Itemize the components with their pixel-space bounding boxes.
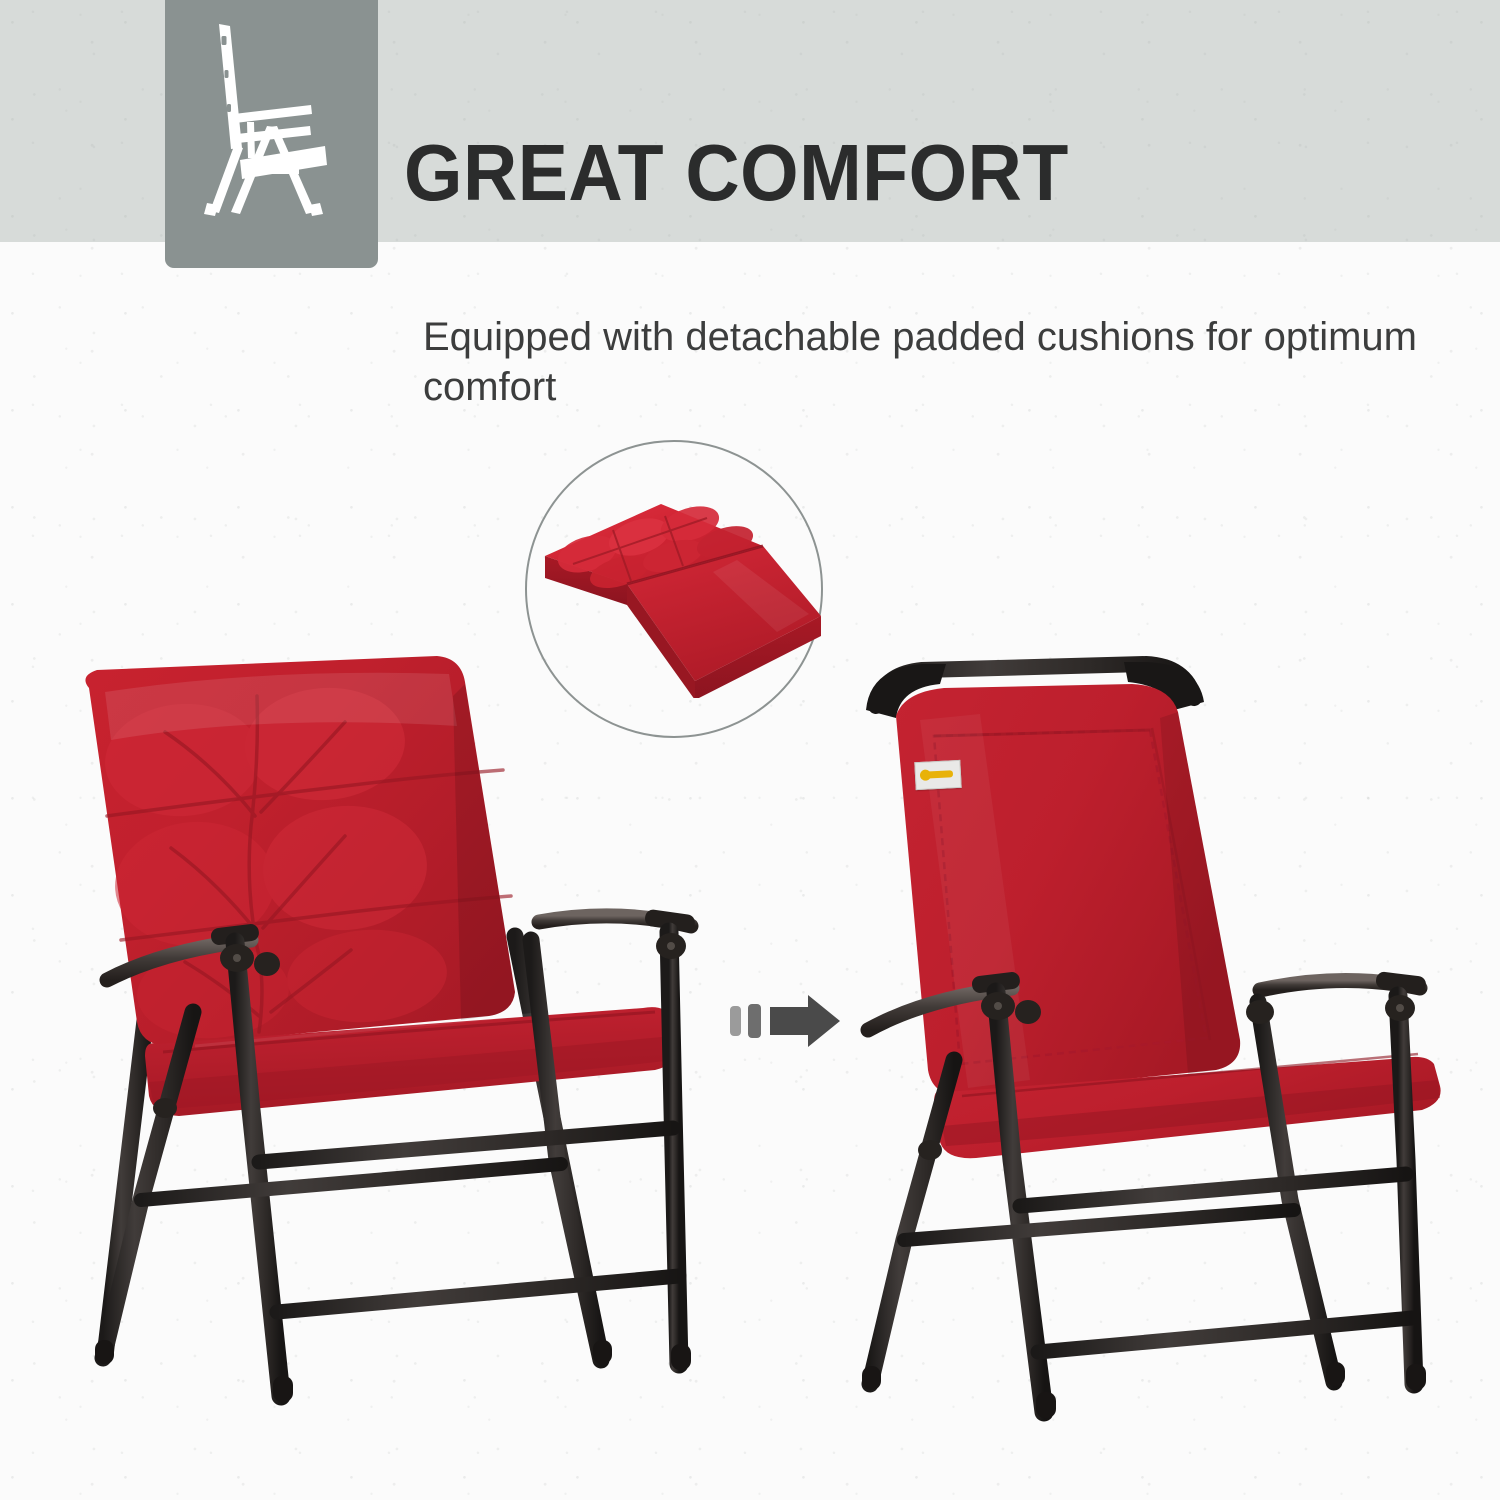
lower-cross-brace — [277, 1276, 679, 1312]
chair-with-cushion — [45, 640, 725, 1445]
arrow-head — [770, 995, 840, 1047]
brand-logo-badge — [914, 760, 961, 790]
page-subtitle: Equipped with detachable padded cushions… — [423, 312, 1433, 412]
arrow-trail-far — [730, 1006, 741, 1036]
lower-cross-brace — [1038, 1318, 1412, 1352]
feature-icon-tile — [165, 0, 378, 268]
brand-logo-mark — [922, 770, 953, 779]
upper-cross-brace — [259, 1128, 673, 1162]
product-feature-canvas: GREAT COMFORT Equipped with detachable p… — [0, 0, 1500, 1500]
arrow-trail-near — [748, 1004, 761, 1038]
upper-cross-brace — [1020, 1174, 1406, 1206]
detachable-cushion-illustration — [527, 468, 823, 698]
transform-arrow — [730, 995, 840, 1052]
page-title: GREAT COMFORT — [404, 131, 1400, 215]
